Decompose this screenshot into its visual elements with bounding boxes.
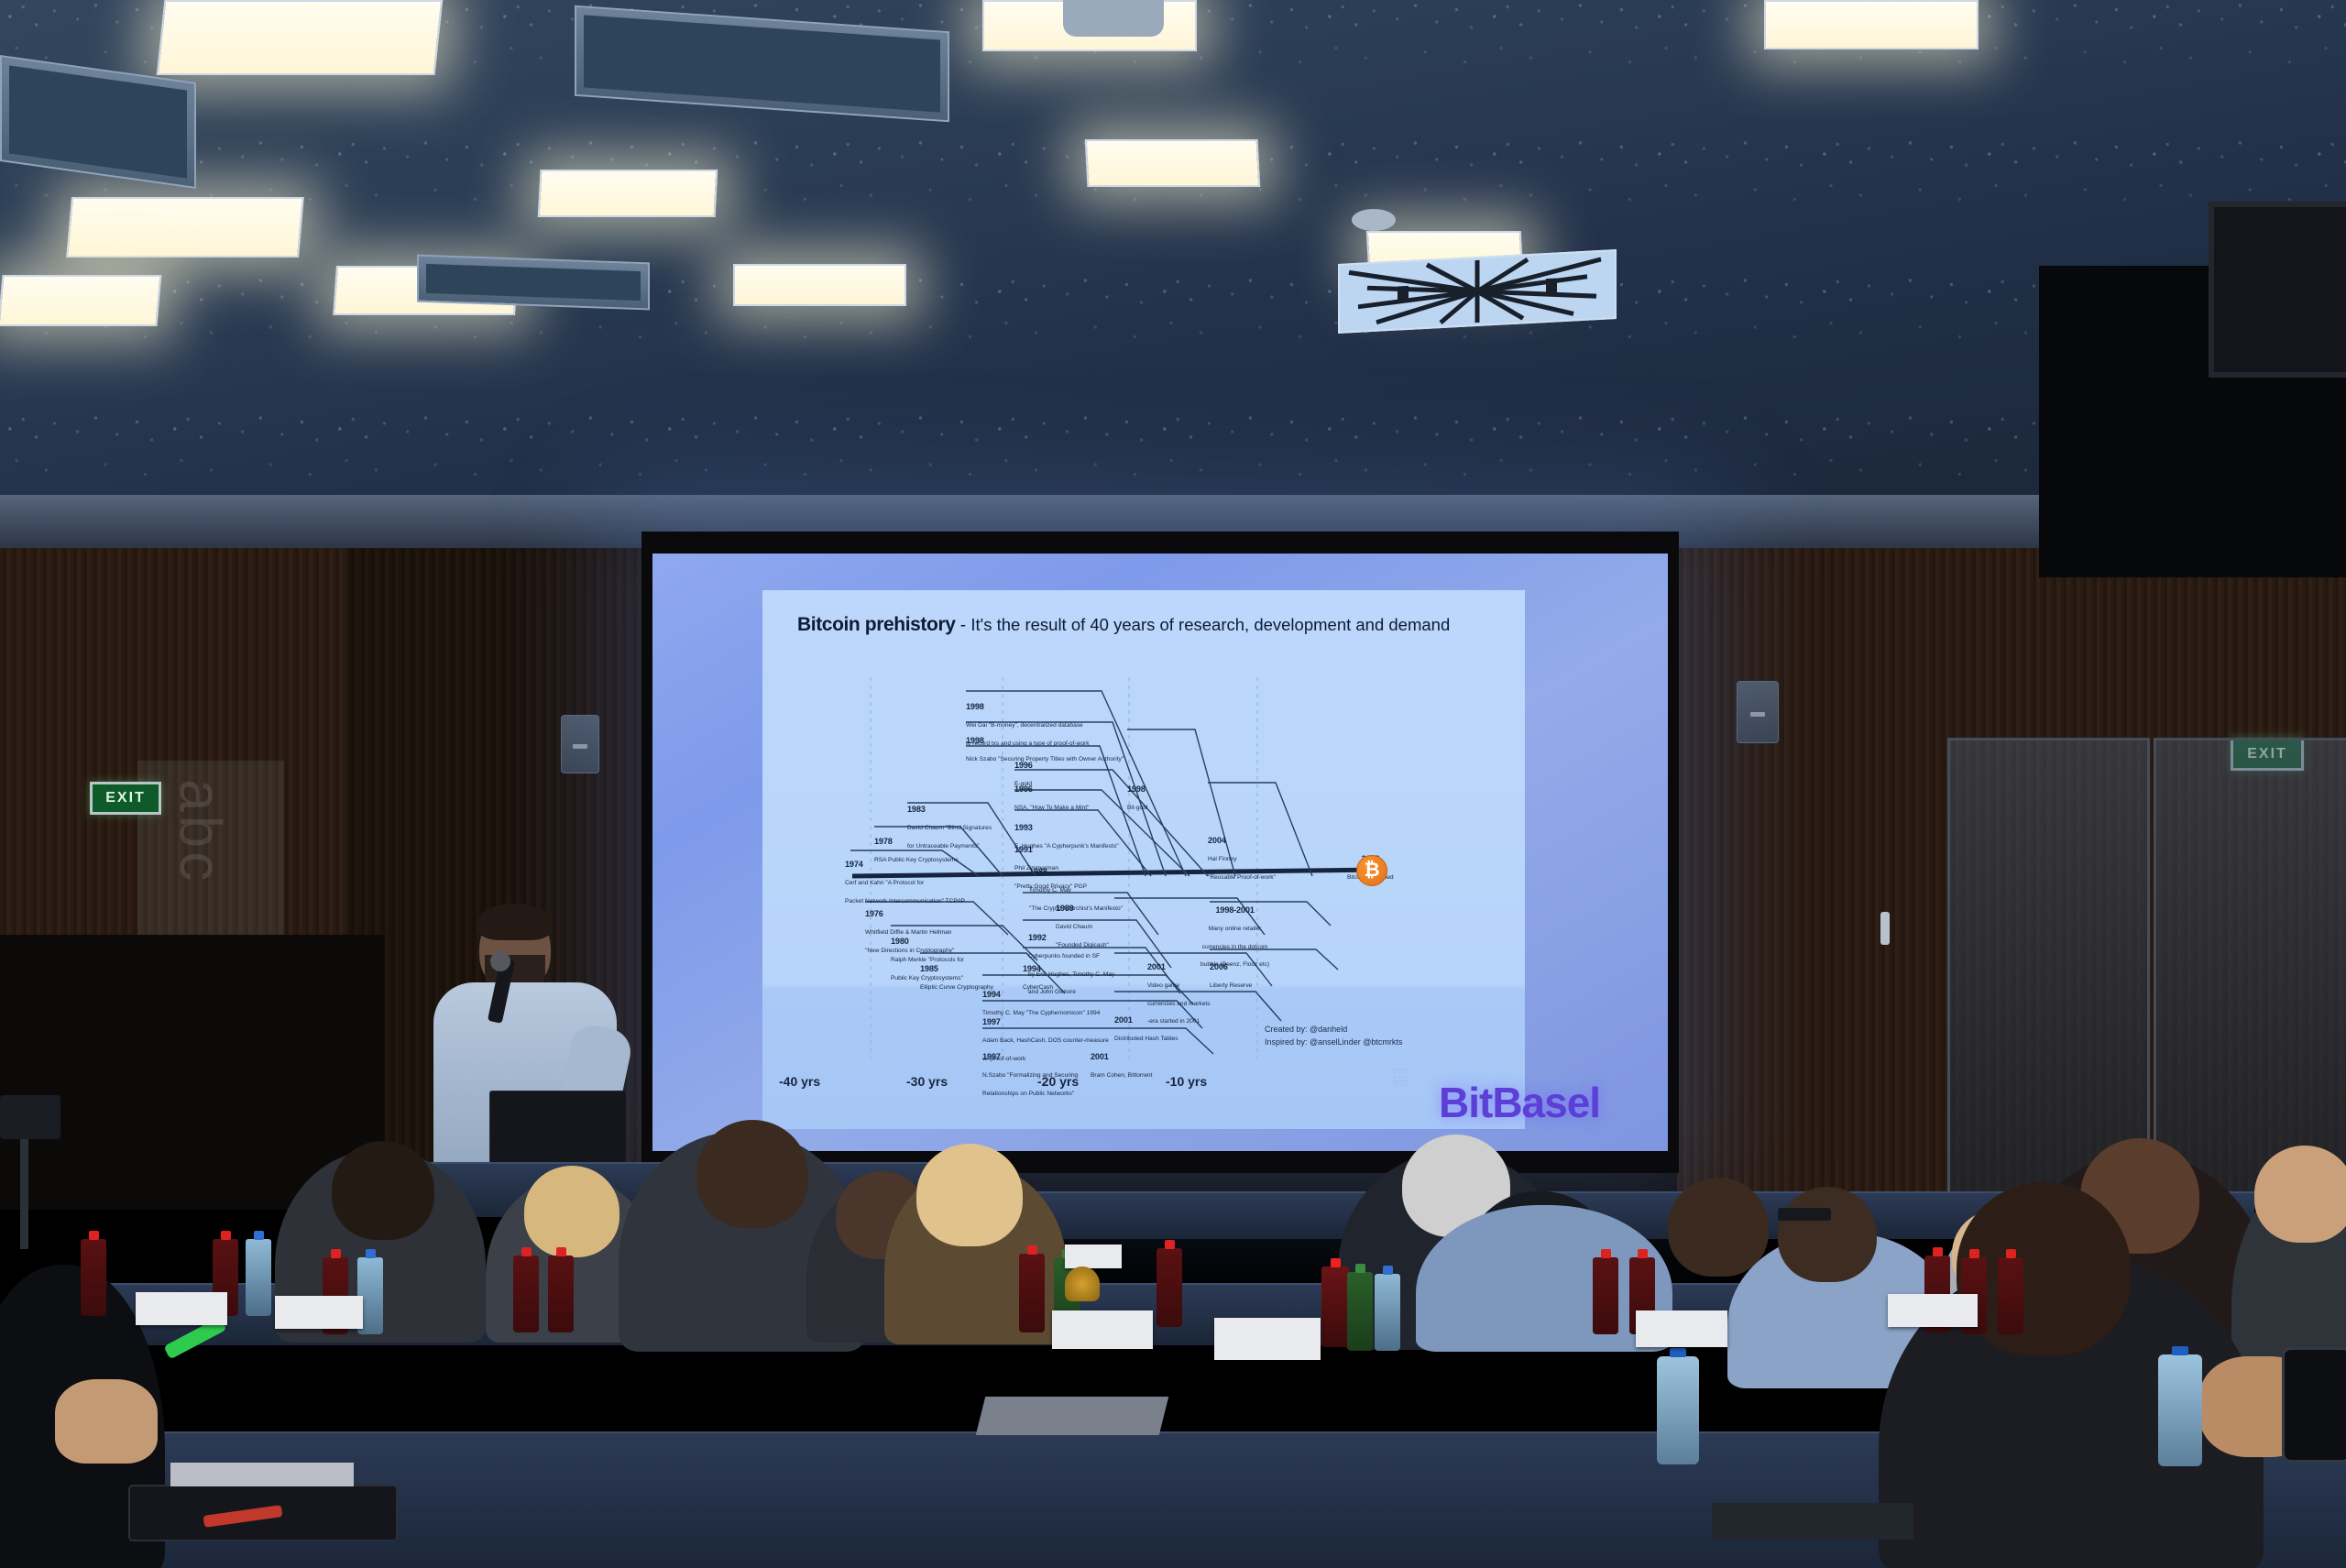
name-card — [1888, 1294, 1978, 1327]
coke-bottle[interactable] — [1321, 1266, 1349, 1347]
coke-bottle[interactable] — [1157, 1248, 1182, 1327]
water-bottle[interactable] — [1375, 1274, 1400, 1351]
name-card — [1214, 1318, 1321, 1360]
name-card — [275, 1296, 363, 1329]
conference-room-photo: abc EXIT EXIT Bitcoin prehistory - It's … — [0, 0, 2346, 1568]
audience-hand — [55, 1379, 158, 1464]
water-bottle[interactable] — [1657, 1356, 1699, 1464]
tripod — [20, 1139, 28, 1249]
paper-sheet — [170, 1463, 354, 1486]
video-camera[interactable] — [0, 1095, 60, 1139]
sprite-bottle[interactable] — [1347, 1272, 1373, 1351]
audience-head — [1668, 1178, 1769, 1277]
coke-bottle[interactable] — [1019, 1254, 1045, 1332]
smartphone[interactable] — [2282, 1347, 2346, 1463]
name-card — [1052, 1310, 1153, 1349]
foreground — [0, 0, 2346, 1568]
paper-sheet — [976, 1397, 1168, 1435]
name-card — [1065, 1245, 1122, 1268]
audience-head — [524, 1166, 619, 1257]
coke-bottle[interactable] — [1998, 1257, 2023, 1334]
coke-bottle[interactable] — [81, 1239, 106, 1316]
name-card — [136, 1292, 227, 1325]
sunglasses-icon — [1778, 1208, 1831, 1221]
audience-head — [2254, 1146, 2346, 1243]
audience-head — [1778, 1187, 1877, 1282]
audience-head — [916, 1144, 1023, 1246]
coke-bottle[interactable] — [1593, 1257, 1618, 1334]
microphone-head-icon — [490, 951, 510, 971]
paper-sheet — [1712, 1503, 1913, 1540]
presenter-hair — [477, 904, 553, 940]
audience-head — [696, 1120, 808, 1228]
coke-bottle[interactable] — [548, 1255, 574, 1332]
name-card — [1636, 1310, 1727, 1347]
coke-bottle[interactable] — [513, 1255, 539, 1332]
trophy-icon — [1065, 1266, 1100, 1301]
audience-head — [332, 1141, 434, 1240]
water-bottle[interactable] — [246, 1239, 271, 1316]
water-bottle[interactable] — [2158, 1354, 2202, 1466]
